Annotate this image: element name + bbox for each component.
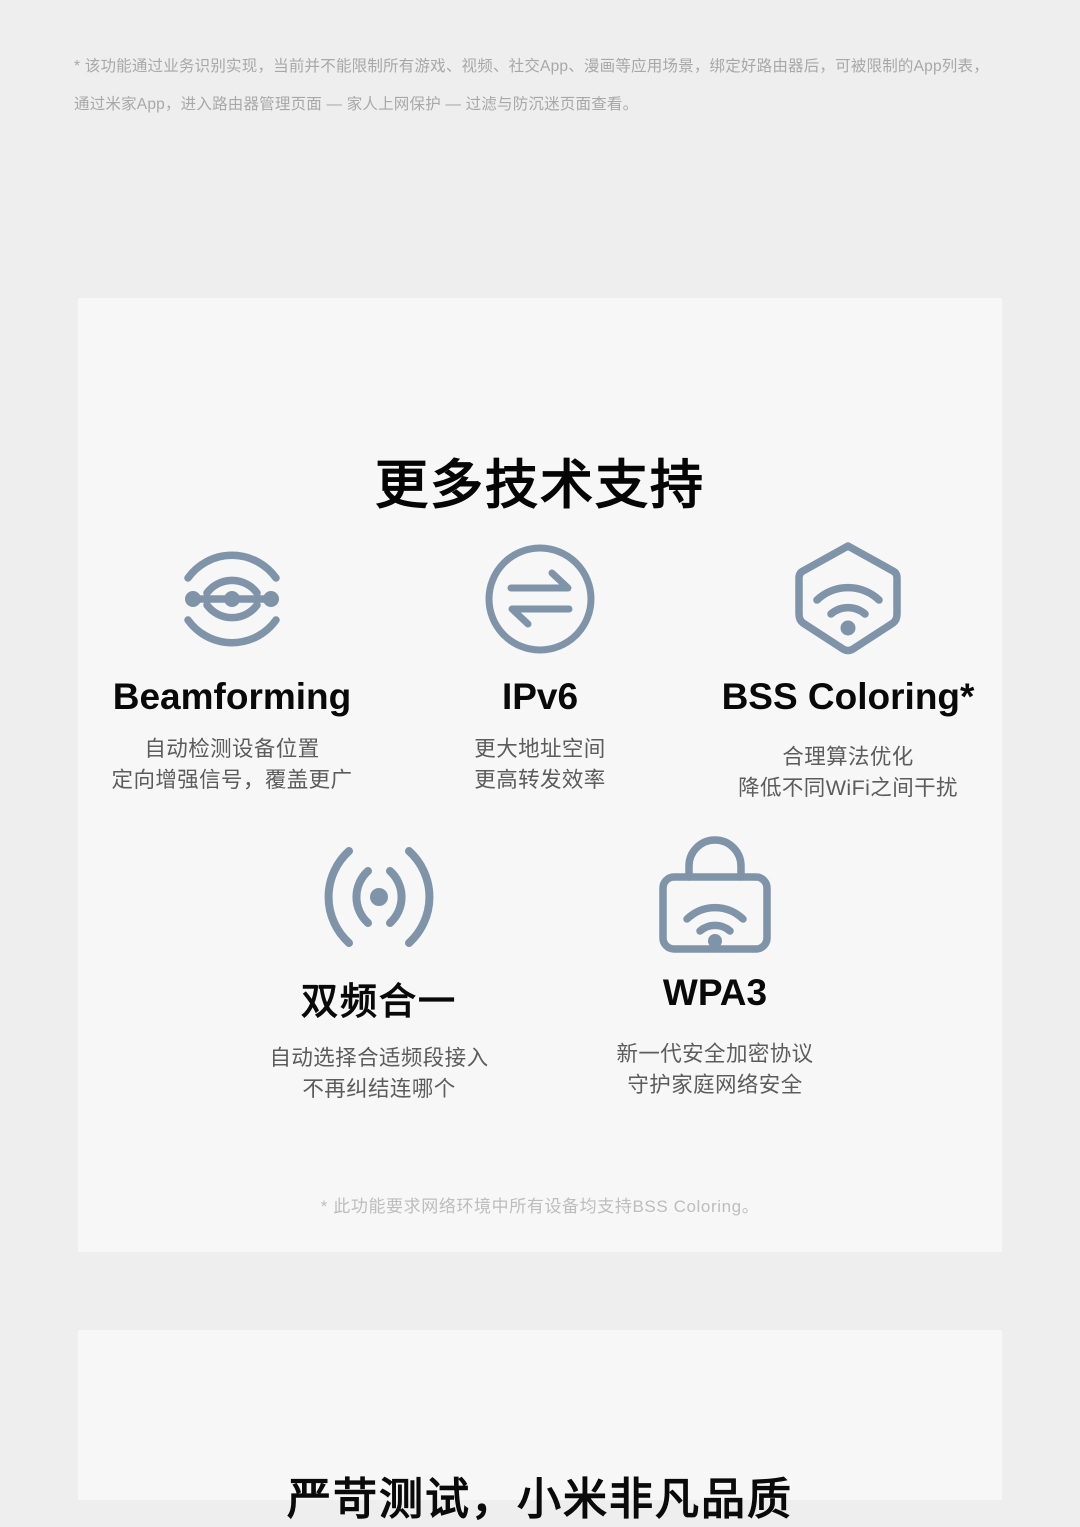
quality-title: 严苛测试，小米非凡品质: [78, 1463, 1002, 1527]
feature-title: Beamforming: [113, 677, 351, 718]
feature-bss-coloring[interactable]: BSS Coloring* 合理算法优化 降低不同WiFi之间干扰: [694, 540, 1002, 804]
feature-description: 合理算法优化 降低不同WiFi之间干扰: [738, 742, 958, 804]
dual-band-wave-icon: [317, 838, 441, 956]
feature-description: 自动检测设备位置 定向增强信号，覆盖更广: [112, 734, 353, 796]
page-disclaimer: * 该功能通过业务识别实现，当前并不能限制所有游戏、视频、社交App、漫画等应用…: [74, 48, 1024, 124]
feature-ipv6[interactable]: IPv6 更大地址空间 更高转发效率: [386, 540, 694, 804]
feature-row-1: Beamforming 自动检测设备位置 定向增强信号，覆盖更广 IPv6 更大…: [78, 540, 1002, 804]
bss-coloring-footnote: * 此功能要求网络环境中所有设备均支持BSS Coloring。: [78, 1192, 1002, 1217]
tech-support-card: 更多技术支持 Beamforming 自动检测设备位置 定向增强信号，覆盖更广: [78, 298, 1002, 1252]
lock-wifi-icon: [651, 838, 779, 956]
page-title: 更多技术支持: [78, 443, 1002, 519]
feature-description: 新一代安全加密协议 守护家庭网络安全: [616, 1039, 813, 1101]
feature-description: 更大地址空间 更高转发效率: [474, 734, 605, 796]
feature-dual-band[interactable]: 双频合一 自动选择合适频段接入 不再纠结连哪个: [211, 838, 547, 1105]
feature-title: BSS Coloring*: [722, 677, 975, 718]
feature-description: 自动选择合适频段接入 不再纠结连哪个: [269, 1043, 488, 1105]
feature-row-2: 双频合一 自动选择合适频段接入 不再纠结连哪个 WPA3 新一代安全加密协议 守…: [78, 838, 1002, 1105]
feature-title: IPv6: [502, 677, 578, 718]
shield-wifi-icon: [787, 540, 909, 658]
ipv6-exchange-icon: [481, 540, 599, 658]
feature-beamforming[interactable]: Beamforming 自动检测设备位置 定向增强信号，覆盖更广: [78, 540, 386, 804]
feature-title: WPA3: [663, 973, 767, 1014]
beamforming-icon: [171, 540, 293, 658]
quality-card: 严苛测试，小米非凡品质: [78, 1330, 1002, 1500]
feature-wpa3[interactable]: WPA3 新一代安全加密协议 守护家庭网络安全: [547, 838, 883, 1105]
feature-title: 双频合一: [301, 982, 457, 1023]
